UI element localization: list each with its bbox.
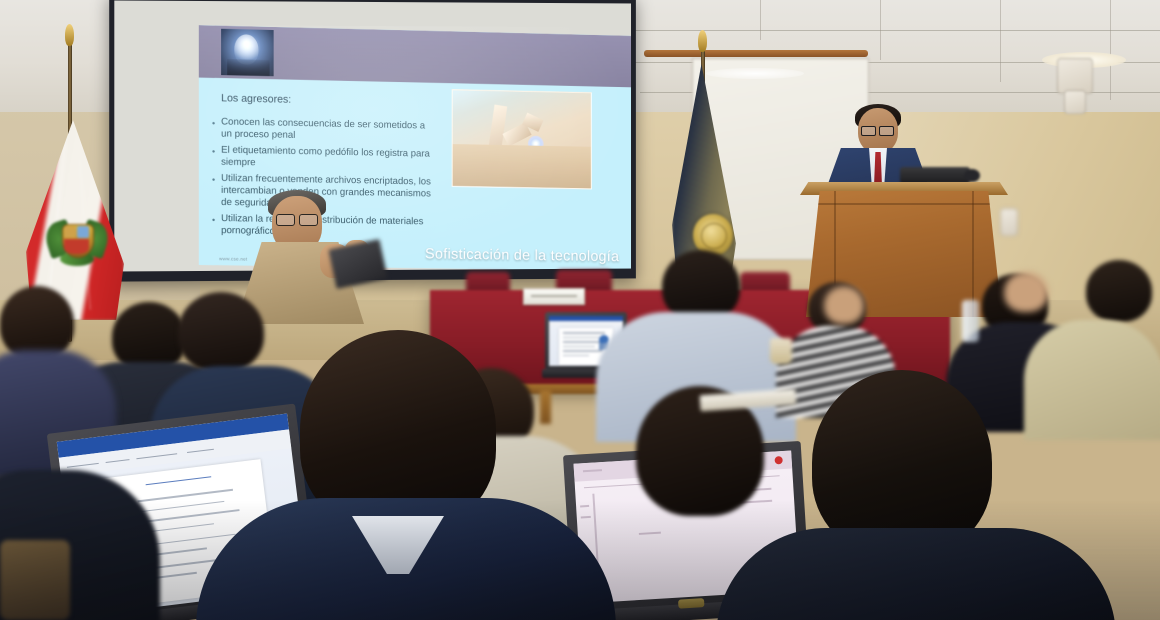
bullet-marker: •	[212, 214, 215, 226]
audience-shoulders	[1024, 320, 1160, 440]
glasses-icon	[276, 214, 318, 224]
whiteboard-rail	[644, 50, 868, 57]
slide-bullet: • Conocen las consecuencias de ser somet…	[221, 116, 432, 145]
wall-outlet	[1000, 208, 1018, 236]
slide-bullet-text: Utilizan la red para la distribución de …	[221, 213, 423, 237]
audience-head	[1004, 272, 1048, 312]
audience-shoulders-foreground	[716, 528, 1116, 620]
presentation-logo-icon	[221, 29, 274, 76]
slide-bullet-text: El etiquetamiento como pedófilo los regi…	[221, 144, 430, 168]
audience-head	[824, 286, 864, 324]
conference-room-photo: Sofisticación de la tecnología Los agres…	[0, 0, 1160, 620]
slide-bullet: • Utilizan la red para la distribución d…	[221, 213, 432, 241]
name-placard	[523, 288, 585, 305]
slide-footer-url: www.cse.net	[219, 256, 247, 261]
slide-bullet: • El etiquetamiento como pedófilo los re…	[221, 144, 432, 172]
audience-head	[0, 286, 74, 360]
presentation-slide: Sofisticación de la tecnología Los agres…	[199, 25, 631, 271]
whiteboard-glare	[706, 68, 804, 79]
audience-head	[178, 292, 264, 372]
bullet-marker: •	[212, 174, 215, 186]
peru-coat-of-arms-icon	[48, 212, 106, 268]
wall-speaker-bracket	[1064, 90, 1086, 114]
water-bottle	[962, 300, 979, 342]
wall-speaker	[1057, 58, 1093, 94]
slide-lead-text: Los agresores:	[221, 92, 291, 106]
bullet-marker: •	[212, 117, 215, 129]
dell-logo-icon	[678, 598, 705, 609]
chair-back	[0, 540, 70, 620]
slide-title: Sofisticación de la tecnología	[425, 246, 619, 265]
drink-cup	[770, 338, 792, 364]
projection-surface: Sofisticación de la tecnología Los agres…	[114, 0, 631, 271]
slide-picture	[452, 89, 592, 189]
table-leg	[540, 390, 551, 424]
bullet-marker: •	[212, 145, 215, 157]
slide-bullet: • Utilizan frecuentemente archivos encri…	[221, 173, 432, 213]
podium-microphone	[900, 167, 970, 184]
glasses-icon	[861, 126, 894, 134]
audience-head	[1086, 260, 1152, 322]
slide-bullet-text: Conocen las consecuencias de ser sometid…	[221, 116, 425, 141]
